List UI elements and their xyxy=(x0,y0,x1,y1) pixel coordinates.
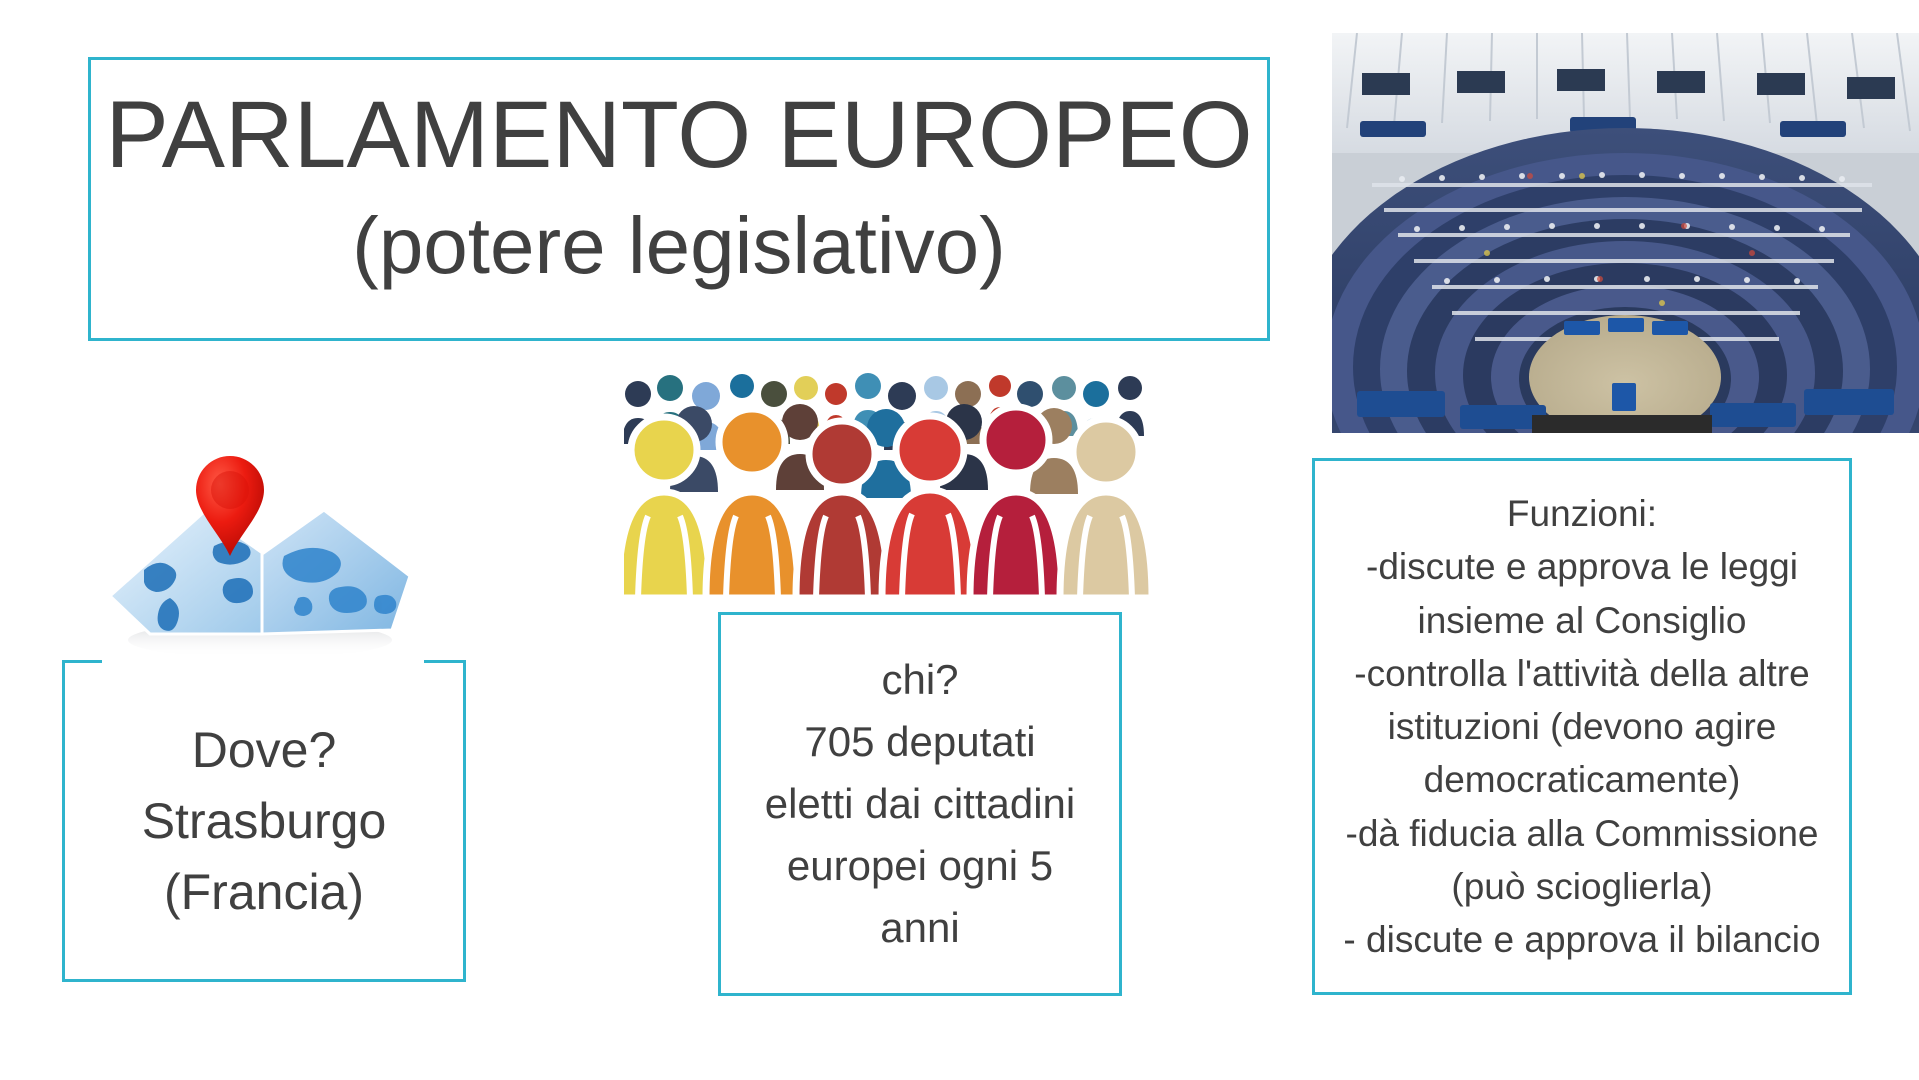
dove-info-box: Dove? Strasburgo (Francia) xyxy=(62,660,466,982)
dove-line: Strasburgo xyxy=(142,786,387,857)
funzioni-line: (può scioglierla) xyxy=(1451,860,1712,913)
dove-box-border-gap xyxy=(102,654,424,666)
page-title: PARLAMENTO EUROPEO xyxy=(105,78,1252,194)
page-subtitle: (potere legislativo) xyxy=(352,194,1006,298)
funzioni-line: - discute e approva il bilancio xyxy=(1343,913,1820,966)
funzioni-line: insieme al Consiglio xyxy=(1417,594,1746,647)
european-parliament-photo xyxy=(1332,33,1919,433)
crowd-of-people-illustration xyxy=(624,372,1152,598)
chi-line: anni xyxy=(880,897,959,959)
funzioni-line: Funzioni: xyxy=(1507,487,1657,540)
funzioni-line: -discute e approva le leggi xyxy=(1366,540,1798,593)
title-box: PARLAMENTO EUROPEO (potere legislativo) xyxy=(88,57,1270,341)
chi-line: eletti dai cittadini xyxy=(765,773,1076,835)
chi-line: chi? xyxy=(881,649,958,711)
chi-info-box: chi? 705 deputati eletti dai cittadini e… xyxy=(718,612,1122,996)
presentation-slide: PARLAMENTO EUROPEO (potere legislativo) xyxy=(0,0,1919,1080)
chi-line: europei ogni 5 xyxy=(787,835,1053,897)
funzioni-line: istituzioni (devono agire xyxy=(1388,700,1777,753)
chi-line: 705 deputati xyxy=(804,711,1035,773)
map-location-illustration xyxy=(92,448,422,678)
funzioni-line: democraticamente) xyxy=(1424,753,1741,806)
funzioni-info-box: Funzioni: -discute e approva le leggi in… xyxy=(1312,458,1852,995)
dove-line: Dove? xyxy=(192,715,337,786)
dove-line: (Francia) xyxy=(164,857,364,928)
funzioni-line: -dà fiducia alla Commissione xyxy=(1346,807,1819,860)
funzioni-line: -controlla l'attività della altre xyxy=(1354,647,1809,700)
